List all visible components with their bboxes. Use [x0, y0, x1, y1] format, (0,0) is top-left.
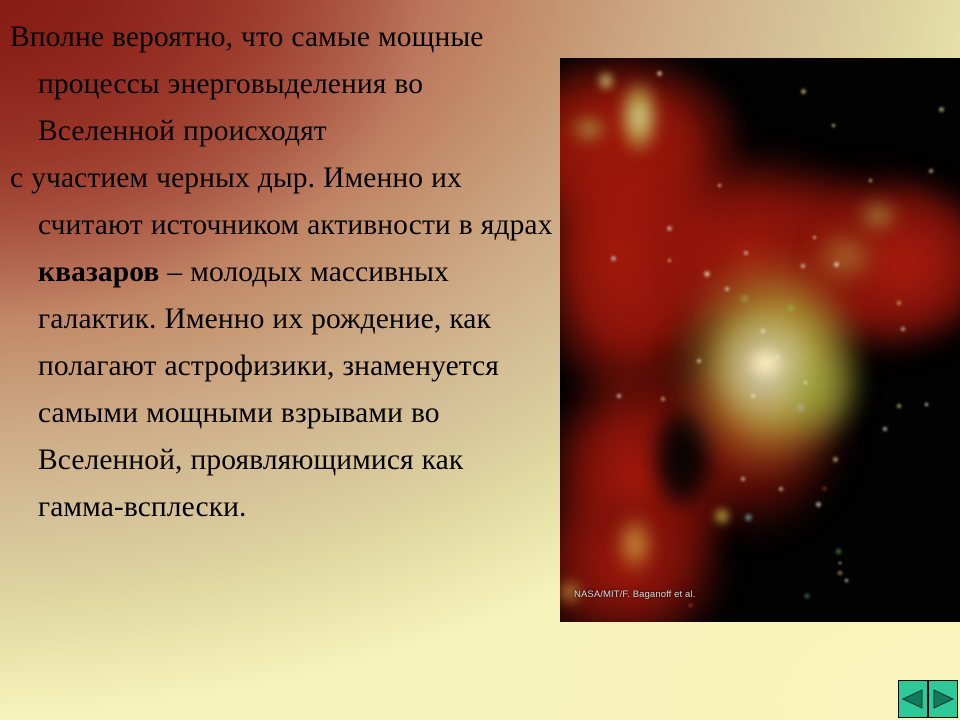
paragraph-2-text-after-bold: – молодых массивных галактик. Именно их …	[38, 256, 499, 523]
yellow-lobe	[618, 78, 660, 156]
point-source	[616, 393, 622, 399]
yellow-lobe	[810, 228, 880, 286]
point-source	[743, 250, 749, 256]
paragraph-2: с участием черных дыр. Именно их считают…	[0, 155, 556, 531]
yellow-lobe	[615, 513, 655, 575]
point-source	[778, 486, 784, 492]
green-emission-patch	[775, 348, 865, 438]
core-diffuse-emission	[675, 248, 865, 478]
point-source	[838, 561, 842, 565]
point-source	[938, 106, 945, 113]
slide-navigation	[898, 680, 958, 718]
point-source	[717, 183, 722, 188]
point-source	[896, 300, 902, 306]
point-source	[835, 548, 842, 555]
point-source	[815, 501, 822, 508]
cloud-blob	[740, 168, 960, 358]
yellow-lobe	[568, 113, 610, 145]
point-source	[775, 354, 780, 359]
paragraph-2-bold-term: квазаров	[38, 256, 159, 288]
point-source	[696, 358, 702, 364]
point-source	[868, 178, 873, 183]
point-source	[832, 456, 839, 463]
yellow-lobe	[855, 198, 901, 234]
point-source	[804, 593, 810, 599]
point-source	[796, 403, 805, 412]
point-source	[833, 261, 840, 268]
cloud-blob	[560, 88, 730, 418]
cloud-blob	[560, 478, 730, 622]
slide-text-body: Вполне вероятно, что самые мощные процес…	[0, 14, 556, 531]
point-source	[656, 70, 663, 77]
point-source	[786, 303, 796, 313]
point-source	[667, 258, 672, 263]
point-source	[896, 403, 902, 409]
point-source	[924, 402, 929, 407]
astronomy-image: NASA/MIT/F. Baganoff et al.	[560, 58, 960, 622]
point-source	[803, 380, 808, 385]
point-source	[812, 235, 817, 240]
point-source	[750, 393, 756, 399]
cloud-blob	[560, 58, 750, 238]
bright-core	[710, 308, 820, 428]
bright-core-peak	[746, 346, 786, 380]
point-source	[660, 396, 666, 402]
cloud-blob	[600, 148, 900, 358]
paragraph-2-text-before-bold: с участием черных дыр. Именно их считают…	[10, 162, 552, 241]
point-source	[882, 426, 888, 432]
previous-slide-button[interactable]	[898, 680, 928, 718]
point-source	[740, 294, 749, 303]
paragraph-1-text: Вполне вероятно, что самые мощные процес…	[10, 21, 483, 147]
cloud-blob	[810, 178, 960, 348]
point-source	[610, 255, 617, 262]
next-slide-button[interactable]	[928, 680, 958, 718]
yellow-lobe	[596, 70, 616, 92]
cloud-dark-notch	[648, 398, 718, 518]
point-source	[837, 570, 843, 576]
yellow-lobe	[712, 506, 732, 526]
cloud-blob	[560, 358, 740, 598]
point-source	[703, 270, 711, 278]
point-source	[760, 328, 766, 334]
point-source	[688, 603, 693, 608]
slide-canvas: Вполне вероятно, что самые мощные процес…	[0, 0, 960, 720]
point-source	[831, 123, 836, 128]
point-source	[740, 476, 746, 482]
point-source	[666, 225, 673, 232]
point-source	[800, 263, 806, 269]
point-source	[724, 286, 730, 292]
point-source	[900, 326, 906, 332]
point-source	[928, 168, 934, 174]
image-credit: NASA/MIT/F. Baganoff et al.	[574, 589, 695, 600]
point-source	[744, 513, 753, 522]
point-source	[844, 578, 849, 583]
point-source	[800, 88, 807, 95]
paragraph-1: Вполне вероятно, что самые мощные процес…	[0, 14, 556, 155]
core-diffuse-emission	[710, 288, 860, 448]
cloud-blob	[650, 308, 850, 538]
point-source	[822, 486, 827, 491]
